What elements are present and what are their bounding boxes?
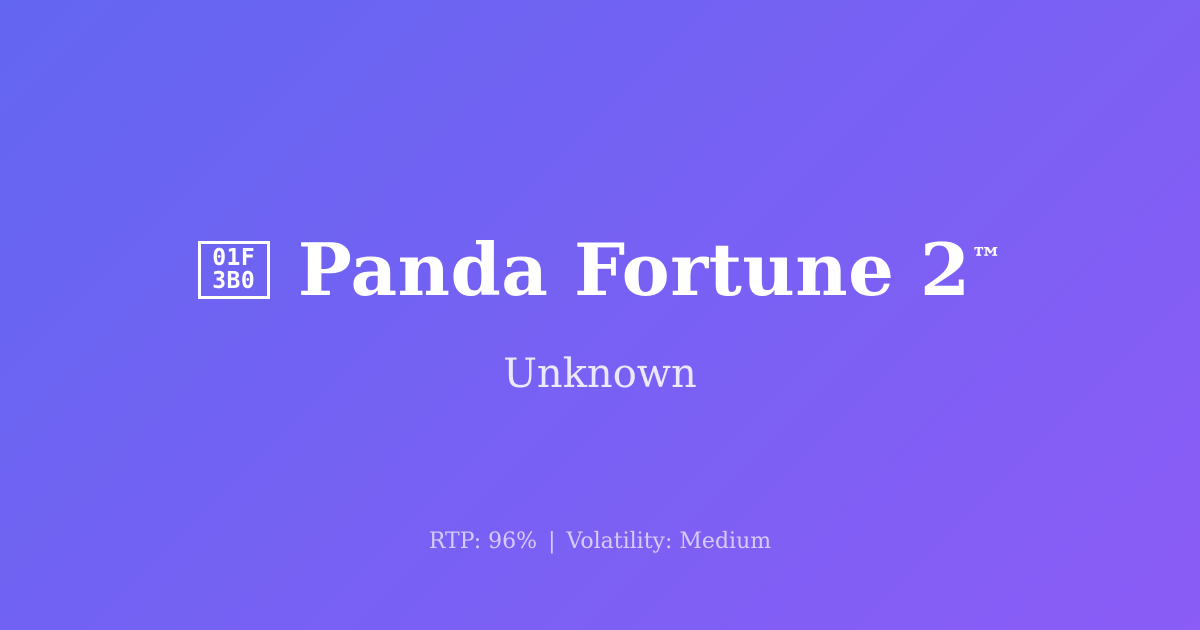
- page-title: Panda Fortune 2™: [298, 232, 1003, 308]
- tofu-codepoint-bottom: 3B0: [212, 270, 255, 293]
- title-row: 01F 3B0 Panda Fortune 2™: [198, 232, 1003, 308]
- rtp-value: 96%: [488, 529, 537, 554]
- page-subtitle: Unknown: [503, 350, 697, 398]
- volatility-value: Medium: [679, 529, 771, 554]
- slot-machine-icon: 01F 3B0: [198, 241, 270, 299]
- volatility-label: Volatility:: [567, 529, 673, 554]
- page-title-name: Panda Fortune 2: [298, 227, 971, 312]
- og-image-card: 01F 3B0 Panda Fortune 2™ Unknown RTP: 96…: [0, 0, 1200, 630]
- trademark-symbol: ™: [971, 241, 1003, 278]
- tofu-codepoint-top: 01F: [212, 247, 255, 270]
- footer-separator: |: [544, 529, 559, 554]
- stats-footer: RTP: 96% | Volatility: Medium: [0, 528, 1200, 557]
- rtp-label: RTP:: [429, 529, 481, 554]
